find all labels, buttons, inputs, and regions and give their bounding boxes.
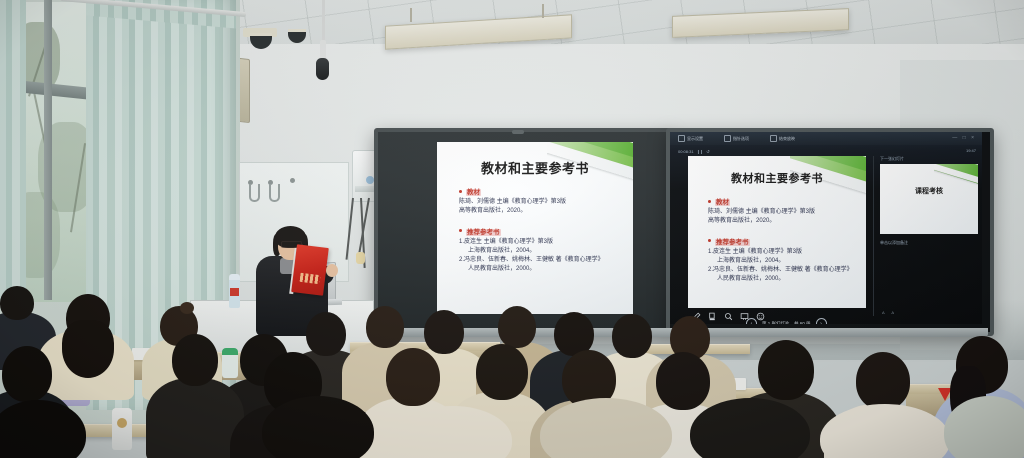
window-frame-vertical (44, 0, 52, 300)
next-slide-label: 下一张幻灯片 (880, 156, 904, 162)
slide-line: 人民教育出版社，2000。 (708, 275, 858, 284)
student-head (424, 310, 464, 354)
coat-hook-icon[interactable] (269, 184, 280, 202)
light-stem (410, 8, 412, 22)
section-heading-text: 推荐参考书 (715, 239, 750, 246)
slide-line: 上海教育出版社，2004。 (459, 247, 625, 256)
slide-section-heading: 教材 (708, 196, 858, 206)
curtain-left[interactable] (0, 0, 26, 300)
student-head (306, 312, 346, 356)
pointer-icon (724, 135, 731, 142)
chevron-right-icon[interactable]: › (816, 318, 827, 324)
monitor-icon (770, 135, 777, 142)
ac-logo-icon (366, 176, 374, 184)
slide-line: 1.皮连生 主编《教育心理学》第3版 (708, 248, 858, 257)
slide-section-heading: 推荐参考书 (708, 236, 858, 246)
student-head (2, 346, 52, 402)
slide-body: 教材 陈琦、刘儒德 主编《教育心理学》第3版 高等教育出版社，2020。 推荐参… (708, 196, 858, 285)
toolbar-pointer-options[interactable]: 指针选项 (724, 135, 749, 142)
student-head (172, 334, 218, 386)
toolbar-label: 结束放映 (779, 136, 795, 142)
water-bottle (229, 274, 240, 308)
student-hair-bun (180, 302, 194, 314)
coat-hook-icon[interactable] (249, 184, 260, 202)
toolbar-label: 显示设置 (687, 136, 703, 142)
slide-title: 教材和主要参考书 (688, 170, 866, 186)
timer-pause-icon[interactable]: ❙❙ (697, 149, 704, 154)
bullet-dot-icon (708, 200, 711, 203)
toolbar-end-show[interactable]: 结束放映 (770, 135, 795, 142)
slide-line: 1.皮连生 主编《教育心理学》第3版 (459, 238, 625, 247)
notes-zoom-controls[interactable]: A A (882, 310, 897, 315)
chevron-left-icon[interactable]: ‹ (746, 318, 757, 324)
slide-line: 人民教育出版社，2000。 (459, 265, 625, 274)
next-slide-thumbnail[interactable]: 课程考核 (880, 164, 978, 234)
slide-title: 教材和主要参考书 (437, 158, 633, 177)
display-settings-icon (678, 135, 685, 142)
slide-section: 教材 陈琦、刘儒德 主编《教育心理学》第3版 高等教育出版社，2020。 (459, 186, 625, 217)
elapsed-timer: 00:08:31 (678, 149, 694, 154)
section-heading-text: 教材 (715, 199, 730, 206)
slide-line: 陈琦、刘儒德 主编《教育心理学》第3版 (708, 208, 858, 217)
cable-connector (356, 252, 365, 264)
notes-pane-label[interactable]: 单击以添加备注 (880, 240, 908, 246)
slide-line: 高等教育出版社，2020。 (708, 217, 858, 226)
hook-cap-icon (290, 178, 295, 183)
student-head (366, 306, 404, 348)
window-controls[interactable]: — □ × (952, 135, 976, 141)
bullet-dot-icon (708, 239, 711, 242)
slide-line: 高等教育出版社，2020。 (459, 207, 625, 216)
bullet-dot-icon (459, 229, 462, 232)
highlighter-icon[interactable] (708, 312, 717, 321)
slide-line: 2.冯忠良、伍新春、姚梅林、王健敏 著《教育心理学》 (708, 266, 858, 275)
student-head (498, 306, 536, 348)
white-thermos (112, 408, 132, 450)
slide-counter: 第 1 张幻灯片，共 60 张 (762, 321, 811, 325)
timer-reset-icon[interactable]: ↺ (706, 149, 709, 154)
magnifier-icon[interactable] (724, 312, 733, 321)
student-head (856, 352, 910, 410)
student-hair (62, 320, 114, 378)
next-slide-title: 课程考核 (880, 186, 978, 196)
slide-line: 2.冯忠良、伍新春、姚梅林、王健敏 著《教育心理学》 (459, 256, 625, 265)
green-thermos (222, 348, 238, 378)
section-heading-text: 教材 (466, 189, 481, 196)
presenter-divider (873, 156, 874, 316)
section-heading-text: 推荐参考书 (466, 229, 501, 236)
slide-section-heading: 教材 (459, 186, 625, 196)
slide-section: 推荐参考书 1.皮连生 主编《教育心理学》第3版 上海教育出版社，2004。 2… (708, 236, 858, 285)
student-head (758, 340, 814, 400)
presenter-status-bar: 00:08:31 ❙❙ ↺ (678, 147, 710, 155)
presenter-navigation[interactable]: ‹ 第 1 张幻灯片，共 60 张 › (746, 318, 827, 324)
slide-section-heading: 推荐参考书 (459, 226, 625, 236)
red-textbook (291, 244, 329, 296)
student-head (612, 314, 652, 358)
teacher-hand (326, 264, 338, 277)
projected-slide: 教材和主要参考书 教材 陈琦、刘儒德 主编《教育心理学》第3版 高等教育出版社，… (437, 142, 633, 314)
slide-section: 教材 陈琦、刘儒德 主编《教育心理学》第3版 高等教育出版社，2020。 (708, 196, 858, 227)
thermos-emblem-icon (117, 418, 127, 428)
student-head (476, 344, 528, 400)
ceiling-microphone-icon (316, 58, 329, 80)
presenter-toolbar[interactable] (670, 132, 982, 145)
student-head (386, 348, 440, 406)
slide-section: 推荐参考书 1.皮连生 主编《教育心理学》第3版 上海教育出版社，2004。 2… (459, 226, 625, 275)
bullet-dot-icon (459, 190, 462, 193)
classroom-photo-scene: 教材和主要参考书 教材 陈琦、刘儒德 主编《教育心理学》第3版 高等教育出版社，… (0, 0, 1024, 458)
toolbar-display-settings[interactable]: 显示设置 (678, 135, 703, 142)
student-head (0, 286, 34, 320)
toolbar-label: 指针选项 (733, 136, 749, 142)
presenter-view[interactable]: 显示设置 指针选项 结束放映 — □ × 00:08:31 ❙❙ ↺ 19:47… (670, 132, 982, 324)
clock: 19:47 (966, 148, 976, 153)
slide-line: 陈琦、刘儒德 主编《教育心理学》第3版 (459, 198, 625, 207)
student-head (656, 352, 710, 410)
presenter-current-slide: 教材和主要参考书 教材 陈琦、刘儒德 主编《教育心理学》第3版 高等教育出版社，… (688, 156, 866, 308)
slide-body: 教材 陈琦、刘儒德 主编《教育心理学》第3版 高等教育出版社，2020。 推荐参… (459, 186, 625, 275)
light-stem (542, 4, 544, 18)
slide-line: 上海教育出版社，2004。 (708, 257, 858, 266)
board-camera-icon (512, 130, 524, 134)
student-head (262, 396, 374, 458)
